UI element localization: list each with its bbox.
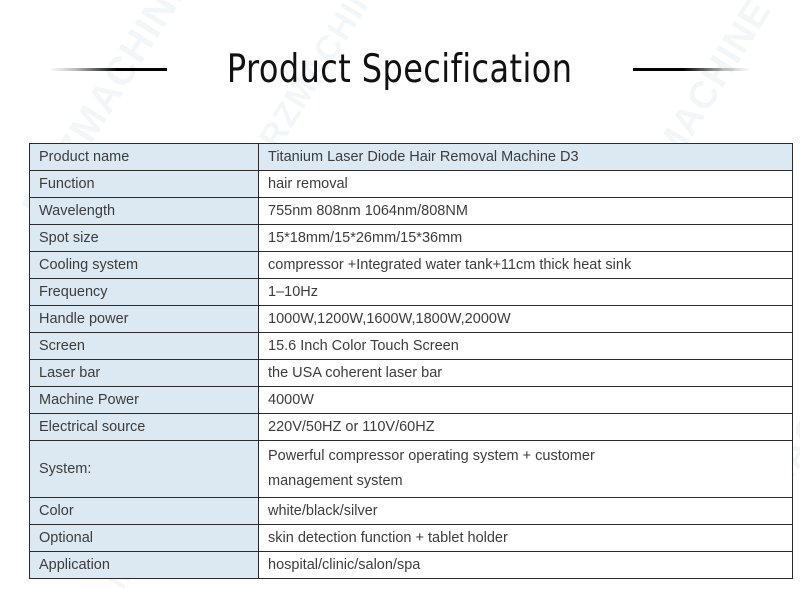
table-row: Application hospital/clinic/salon/spa bbox=[30, 552, 793, 579]
spec-value: white/black/silver bbox=[259, 498, 793, 525]
spec-key: Optional bbox=[30, 525, 259, 552]
table-row: System: Powerful compressor operating sy… bbox=[30, 441, 793, 498]
spec-value: the USA coherent laser bar bbox=[259, 360, 793, 387]
specification-table: Product name Titanium Laser Diode Hair R… bbox=[29, 143, 793, 579]
spec-key: Handle power bbox=[30, 306, 259, 333]
specification-table-container: Product name Titanium Laser Diode Hair R… bbox=[29, 143, 772, 579]
table-row: Optional skin detection function + table… bbox=[30, 525, 793, 552]
table-row: Wavelength 755nm 808nm 1064nm/808NM bbox=[30, 198, 793, 225]
spec-value: 1000W,1200W,1600W,1800W,2000W bbox=[259, 306, 793, 333]
spec-value: 220V/50HZ or 110V/60HZ bbox=[259, 414, 793, 441]
table-row: Frequency 1–10Hz bbox=[30, 279, 793, 306]
specification-table-body: Product name Titanium Laser Diode Hair R… bbox=[30, 144, 793, 579]
table-row: Cooling system compressor +Integrated wa… bbox=[30, 252, 793, 279]
table-row: Product name Titanium Laser Diode Hair R… bbox=[30, 144, 793, 171]
spec-key: Function bbox=[30, 171, 259, 198]
table-row: Color white/black/silver bbox=[30, 498, 793, 525]
spec-key: Machine Power bbox=[30, 387, 259, 414]
spec-value: hair removal bbox=[259, 171, 793, 198]
spec-key: Frequency bbox=[30, 279, 259, 306]
spec-key: Laser bar bbox=[30, 360, 259, 387]
spec-key: Application bbox=[30, 552, 259, 579]
spec-key: Color bbox=[30, 498, 259, 525]
table-row: Laser bar the USA coherent laser bar bbox=[30, 360, 793, 387]
page-title-text: Product Specification bbox=[227, 50, 573, 89]
spec-value: 15*18mm/15*26mm/15*36mm bbox=[259, 225, 793, 252]
spec-value: 755nm 808nm 1064nm/808NM bbox=[259, 198, 793, 225]
page-title: Product Specification bbox=[0, 38, 800, 100]
spec-value-line: management system bbox=[268, 469, 792, 494]
spec-value: 15.6 Inch Color Touch Screen bbox=[259, 333, 793, 360]
spec-value: 1–10Hz bbox=[259, 279, 793, 306]
spec-value-line: Powerful compressor operating system + c… bbox=[268, 444, 792, 469]
table-row: Machine Power 4000W bbox=[30, 387, 793, 414]
spec-value: skin detection function + tablet holder bbox=[259, 525, 793, 552]
spec-value: 4000W bbox=[259, 387, 793, 414]
spec-key: Screen bbox=[30, 333, 259, 360]
spec-value: hospital/clinic/salon/spa bbox=[259, 552, 793, 579]
spec-key: Spot size bbox=[30, 225, 259, 252]
spec-key: Electrical source bbox=[30, 414, 259, 441]
spec-value: compressor +Integrated water tank+11cm t… bbox=[259, 252, 793, 279]
table-row: Spot size 15*18mm/15*26mm/15*36mm bbox=[30, 225, 793, 252]
table-row: Function hair removal bbox=[30, 171, 793, 198]
table-row: Handle power 1000W,1200W,1600W,1800W,200… bbox=[30, 306, 793, 333]
spec-key: Cooling system bbox=[30, 252, 259, 279]
spec-key: System: bbox=[30, 441, 259, 498]
spec-key: Product name bbox=[30, 144, 259, 171]
title-rule-left-icon bbox=[49, 68, 167, 71]
table-row: Electrical source 220V/50HZ or 110V/60HZ bbox=[30, 414, 793, 441]
spec-value: Powerful compressor operating system + c… bbox=[259, 441, 793, 498]
spec-value: Titanium Laser Diode Hair Removal Machin… bbox=[259, 144, 793, 171]
title-rule-right-icon bbox=[633, 68, 751, 71]
table-row: Screen 15.6 Inch Color Touch Screen bbox=[30, 333, 793, 360]
spec-key: Wavelength bbox=[30, 198, 259, 225]
